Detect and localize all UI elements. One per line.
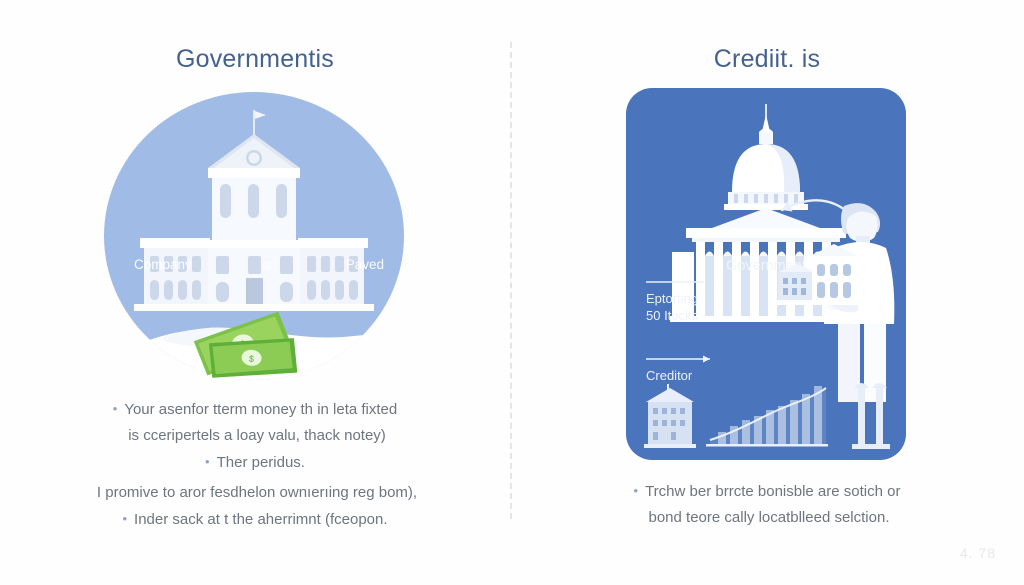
page-number: 4. 78 — [960, 545, 996, 561]
bullet-item: I promive to aror fesdhelon ownıerıing r… — [0, 480, 510, 506]
card-tag-line-2: 50 Itocks — [646, 307, 698, 324]
right-panel-title: Crediit. is — [510, 45, 1024, 74]
right-bullet-group: •Trchw ber brrcte bonisble are sotich or… — [510, 478, 1024, 531]
bullet-text: I promive to aror fesdhelon ownıerıing r… — [97, 484, 417, 501]
bullet-text: is cceripertels a loay valu, thack notey… — [128, 427, 386, 444]
bullet-text: Inder sack at t the aherrimnt (fceopon. — [134, 511, 387, 528]
slide-root: Governmentis — [0, 0, 1024, 585]
card-diagram-icons — [626, 88, 906, 460]
card-tag-line-1: Eptorting — [646, 290, 698, 307]
bullet-item: •Inder sack at t the aherrimnt (fceopon. — [0, 506, 510, 533]
card-tag-creditor: Creditor — [646, 367, 692, 384]
held-buildings-icon — [772, 244, 858, 305]
growth-chart-icon — [706, 386, 828, 447]
bullet-dot-icon: • — [634, 483, 639, 498]
bullet-text: Trchw ber brrcte bonisble are sotich or — [645, 483, 900, 500]
bullet-item: •Your asenfor tterm money th in leta fix… — [0, 396, 510, 423]
bullet-text: Your asenfor tterm money th in leta fixt… — [124, 401, 397, 418]
small-building-icon — [644, 384, 696, 448]
left-bullet-group-a: •Your asenfor tterm money th in leta fix… — [0, 396, 510, 476]
left-bullet-group-b: I promive to aror fesdhelon ownıerıing r… — [0, 480, 510, 533]
svg-text:$: $ — [248, 354, 254, 364]
bullet-item: bond teore cally locatblleed selction. — [510, 505, 1024, 531]
bullet-text: bond teore cally locatblleed selction. — [649, 509, 890, 526]
bullet-dot-icon: • — [122, 511, 127, 526]
right-panel: Crediit. is — [510, 0, 1024, 585]
card-tag-exporting: Eptorting 50 Itocks — [646, 290, 698, 324]
money-bills-icon: $ $ — [104, 92, 404, 380]
bullet-text: Ther peridus. — [217, 454, 305, 471]
left-panel-title: Governmentis — [0, 45, 510, 74]
bullet-item: •Trchw ber brrcte bonisble are sotich or — [510, 478, 1024, 505]
bullet-item: •Ther peridus. — [0, 449, 510, 476]
left-illustration: $ $ Company on Paved — [104, 92, 404, 380]
vertical-dashed-divider — [510, 42, 512, 519]
bullet-dot-icon: • — [113, 401, 118, 416]
bullet-item: is cceripertels a loay valu, thack notey… — [0, 423, 510, 449]
card-title-government: Government — [626, 258, 906, 274]
bullet-dot-icon: • — [205, 454, 210, 469]
left-panel: Governmentis — [0, 0, 510, 585]
right-illustration-card: Government Eptorting 50 Itocks Creditor — [626, 88, 906, 460]
